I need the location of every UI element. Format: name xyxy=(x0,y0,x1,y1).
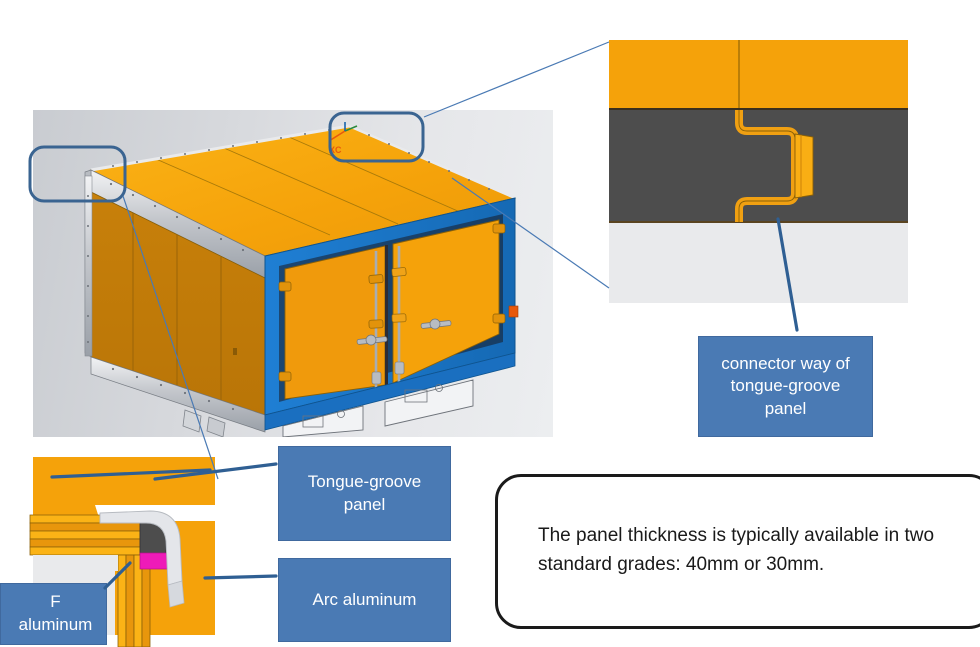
truck-body-render: XC xyxy=(33,110,553,437)
svg-text:XC: XC xyxy=(329,145,342,155)
panel-thickness-note-text: The panel thickness is typically availab… xyxy=(538,522,968,579)
label-arc-aluminum[interactable]: Arc aluminum xyxy=(278,558,451,642)
label-f-aluminum[interactable]: F aluminum xyxy=(0,583,107,645)
panel-thickness-note-callout: The panel thickness is typically availab… xyxy=(495,474,980,629)
label-arc-text: Arc aluminum xyxy=(313,589,417,612)
label-tongue-text: Tongue-groove panel xyxy=(308,471,421,516)
label-connector-way-of-tongue-groove-panel[interactable]: connector way of tongue-groove panel xyxy=(698,336,873,437)
label-connector-text: connector way of tongue-groove panel xyxy=(721,353,850,421)
leader-roof-to-detail xyxy=(424,42,609,117)
label-tongue-groove-panel[interactable]: Tongue-groove panel xyxy=(278,446,451,541)
label-f-aluminum-text: F aluminum xyxy=(13,591,98,636)
tongue-groove-detail-image xyxy=(609,31,908,303)
tongue-groove-detail-svg xyxy=(609,31,908,303)
truck-body-render-svg: XC xyxy=(33,110,553,437)
slide-canvas: XC xyxy=(0,0,980,647)
